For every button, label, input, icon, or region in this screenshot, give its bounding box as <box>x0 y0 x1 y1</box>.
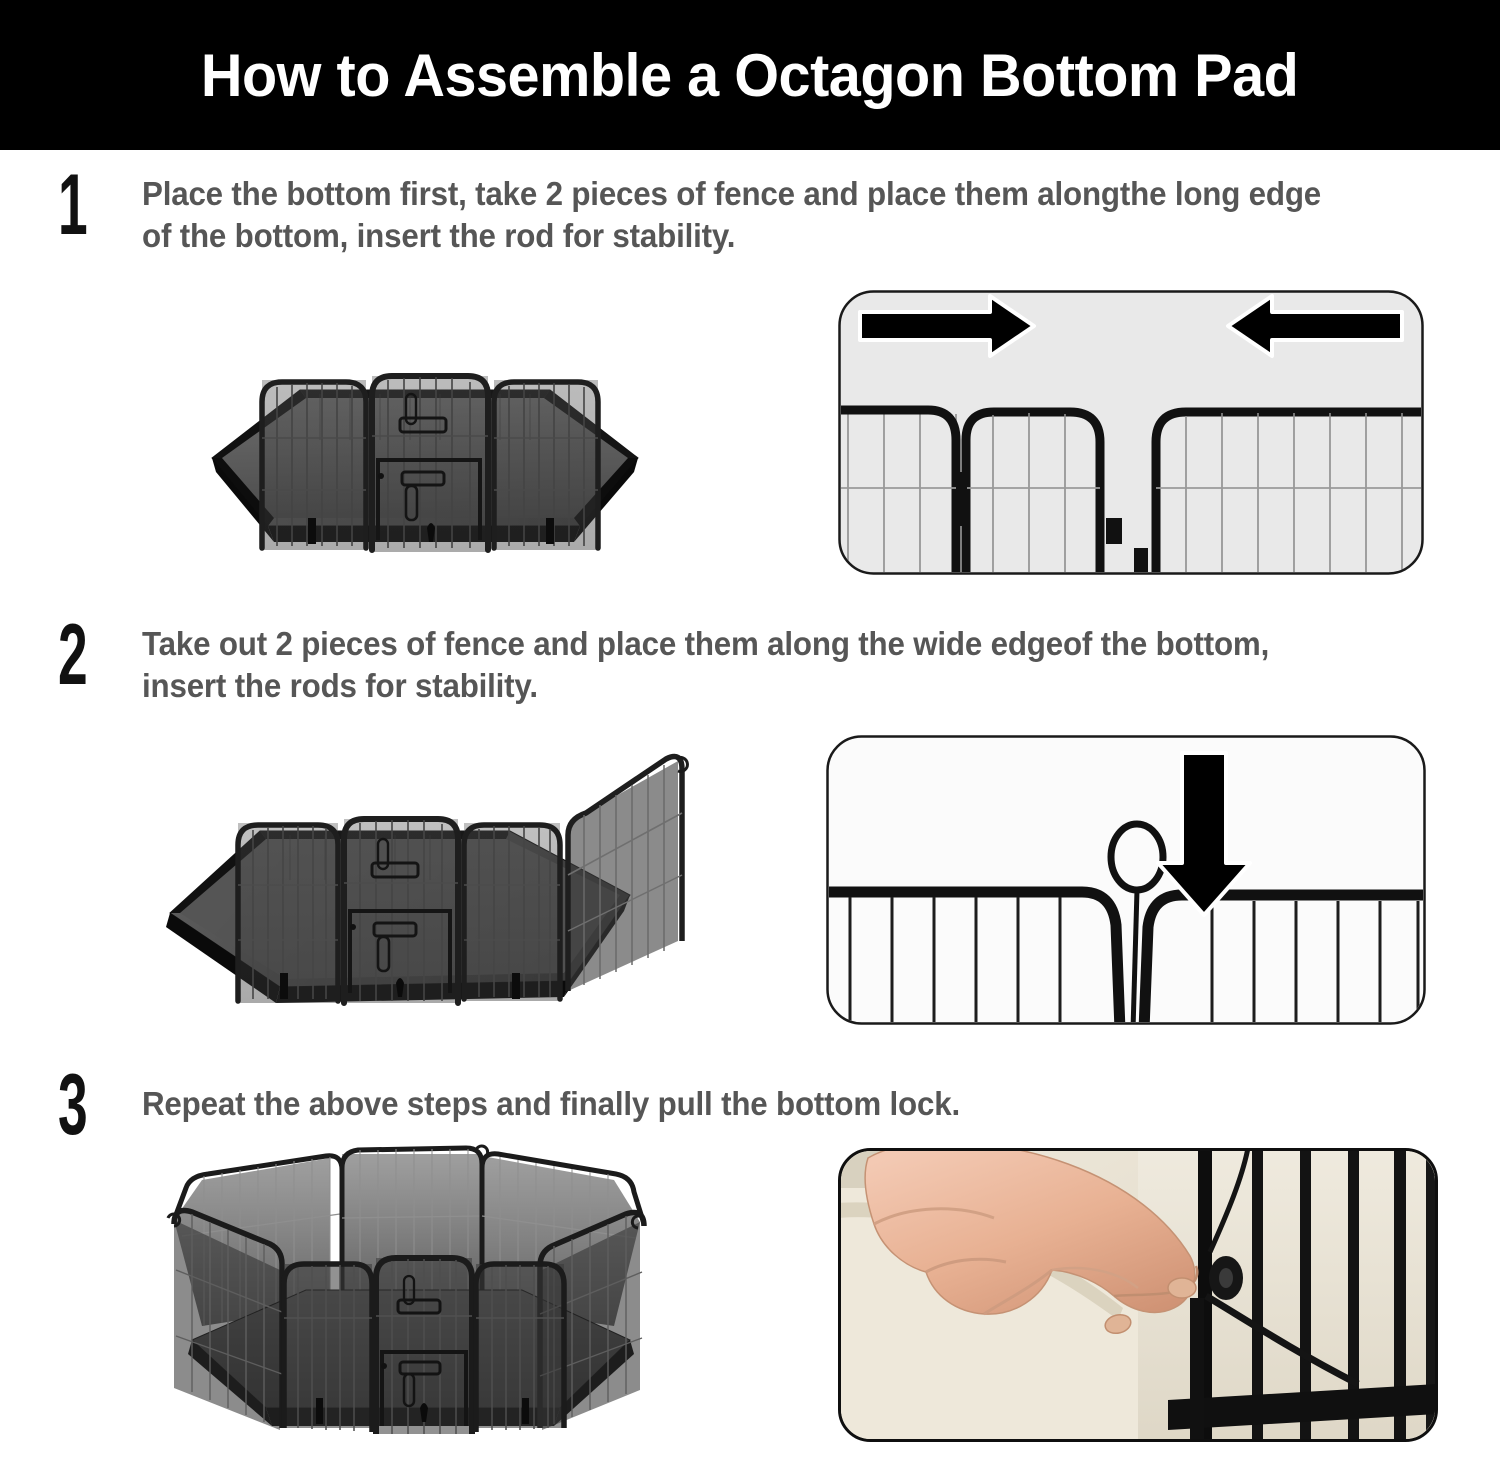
step-3-illustrations <box>0 1140 1500 1465</box>
step-2: 2 Take out 2 pieces of fence and place t… <box>0 618 1500 718</box>
step-1-number: 1 <box>58 162 88 248</box>
octagon-pad-with-four-panels <box>130 735 700 1025</box>
step-1: 1 Place the bottom first, take 2 pieces … <box>0 168 1500 268</box>
rod-insert-detail <box>826 735 1426 1025</box>
hand-pulling-bottom-lock-photo <box>838 1148 1438 1448</box>
step-2-header: 2 Take out 2 pieces of fence and place t… <box>0 618 1500 718</box>
panels-slide-together-detail <box>838 290 1424 575</box>
title-bar: How to Assemble a Octagon Bottom Pad <box>0 0 1500 150</box>
fence-panel-side-new <box>568 757 687 991</box>
front-panel-right <box>476 1264 564 1432</box>
octagon-pad-with-two-panels <box>150 290 690 580</box>
step-2-illustrations <box>0 735 1500 1035</box>
octagon-pad-with-four-panels-svg <box>130 735 700 1025</box>
completed-octagon-playpen <box>130 1140 690 1460</box>
step-1-header: 1 Place the bottom first, take 2 pieces … <box>0 168 1500 268</box>
step-2-number: 2 <box>58 612 88 698</box>
rod-insert-svg <box>826 735 1426 1025</box>
panels-slide-together-svg <box>838 290 1424 575</box>
octagon-pad-with-two-panels-svg <box>150 290 690 580</box>
step-1-instruction: Place the bottom first, take 2 pieces of… <box>142 174 1348 257</box>
completed-octagon-playpen-svg <box>130 1140 690 1460</box>
fence-panel-gate <box>344 819 458 1003</box>
step-1-illustrations <box>0 290 1500 590</box>
step-3-number: 3 <box>58 1062 88 1148</box>
step-2-instruction: Take out 2 pieces of fence and place the… <box>142 624 1348 707</box>
hand-pulling-bottom-lock-svg <box>838 1148 1438 1448</box>
step-3-instruction: Repeat the above steps and finally pull … <box>142 1084 1348 1126</box>
front-panel-left <box>284 1264 372 1432</box>
page-title: How to Assemble a Octagon Bottom Pad <box>201 41 1299 110</box>
